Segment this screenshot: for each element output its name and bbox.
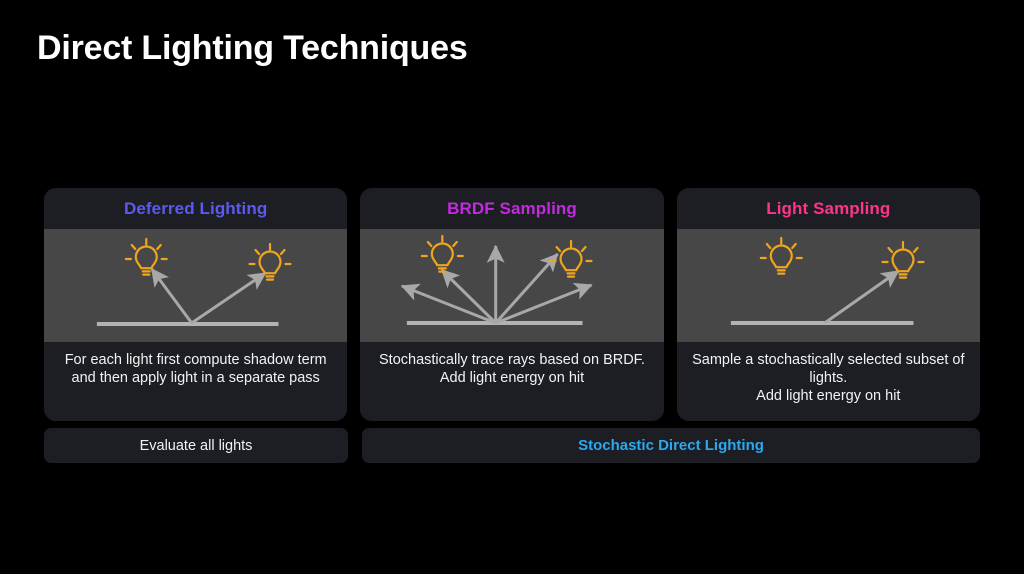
ray-5 bbox=[496, 285, 592, 323]
figure-deferred-lighting bbox=[44, 229, 347, 342]
light-sampling-diagram bbox=[677, 229, 980, 342]
ray-2 bbox=[192, 273, 266, 323]
ray-1 bbox=[152, 269, 192, 323]
card-description-light-sampling: Sample a stochastically selected subset … bbox=[677, 342, 980, 421]
card-deferred-lighting[interactable]: Deferred Lighting bbox=[44, 188, 347, 421]
card-title-light-sampling: Light Sampling bbox=[766, 199, 890, 219]
page-title: Direct Lighting Techniques bbox=[37, 29, 468, 68]
footer-bar-stochastic-direct-lighting[interactable]: Stochastic Direct Lighting bbox=[362, 428, 980, 463]
card-header-deferred-lighting: Deferred Lighting bbox=[44, 188, 347, 229]
light-bulb-icon bbox=[250, 244, 291, 280]
light-bulb-icon bbox=[126, 239, 167, 275]
footer-label-stochastic-direct-lighting: Stochastic Direct Lighting bbox=[578, 437, 764, 454]
deferred-lighting-diagram bbox=[44, 229, 347, 342]
ray-2 bbox=[442, 270, 496, 323]
ray-1 bbox=[402, 286, 496, 323]
card-light-sampling[interactable]: Light Sampling bbox=[677, 188, 980, 421]
ray-4 bbox=[496, 254, 558, 323]
surface-line bbox=[97, 322, 279, 326]
card-header-light-sampling: Light Sampling bbox=[677, 188, 980, 229]
brdf-sampling-diagram bbox=[360, 229, 663, 342]
light-bulb-icon bbox=[760, 238, 801, 274]
card-header-brdf-sampling: BRDF Sampling bbox=[360, 188, 663, 229]
card-title-deferred-lighting: Deferred Lighting bbox=[124, 199, 267, 219]
light-bulb-icon bbox=[882, 242, 923, 278]
card-description-deferred-lighting: For each light first compute shadow term… bbox=[44, 342, 347, 421]
figure-brdf-sampling bbox=[360, 229, 663, 342]
surface-line bbox=[731, 321, 914, 325]
card-title-brdf-sampling: BRDF Sampling bbox=[447, 199, 577, 219]
footer-bar-evaluate-all-lights[interactable]: Evaluate all lights bbox=[44, 428, 348, 463]
light-bulb-icon bbox=[422, 236, 463, 272]
light-bulb-icon bbox=[551, 241, 592, 277]
technique-cards-row: Deferred Lighting bbox=[44, 188, 980, 421]
footer-summary-row: Evaluate all lights Stochastic Direct Li… bbox=[44, 428, 980, 463]
card-brdf-sampling[interactable]: BRDF Sampling bbox=[360, 188, 663, 421]
card-description-brdf-sampling: Stochastically trace rays based on BRDF.… bbox=[360, 342, 663, 421]
footer-label-evaluate-all-lights: Evaluate all lights bbox=[140, 438, 253, 454]
figure-light-sampling bbox=[677, 229, 980, 342]
ray-1 bbox=[824, 271, 898, 323]
